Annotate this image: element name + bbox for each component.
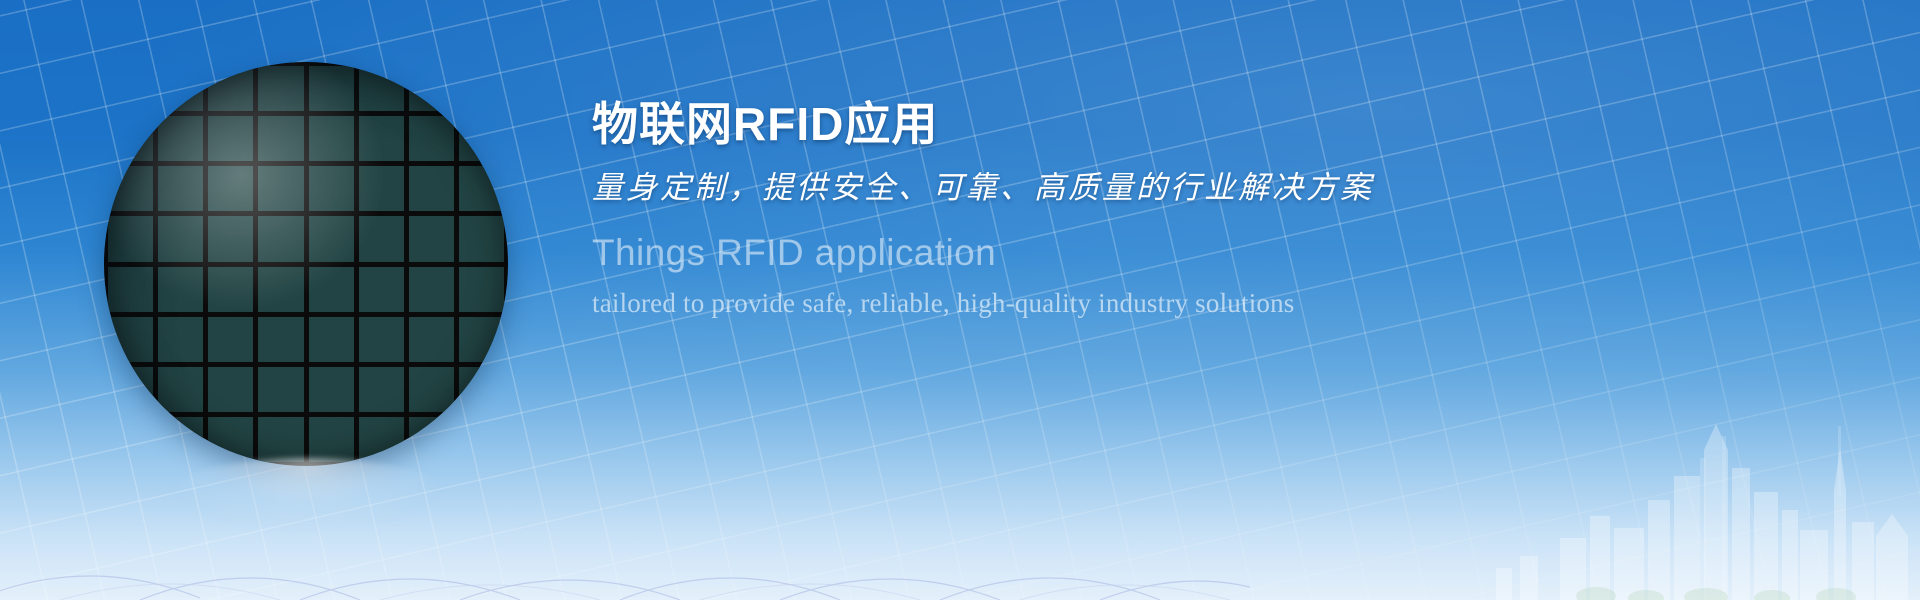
globe-tile <box>208 317 253 362</box>
globe-tile <box>208 166 253 211</box>
globe-tile <box>459 267 504 312</box>
globe-tile <box>309 216 354 261</box>
globe-tile <box>409 367 454 412</box>
globe-tile <box>409 166 454 211</box>
mosaic-globe <box>104 62 514 482</box>
wave-arcs-graphic <box>0 510 1250 600</box>
globe-tile <box>208 267 253 312</box>
globe-tile <box>409 267 454 312</box>
globe-tile <box>309 267 354 312</box>
globe-tile <box>409 66 454 111</box>
globe-tile <box>158 267 203 312</box>
globe-tile <box>359 417 404 462</box>
globe-tile <box>258 216 303 261</box>
city-skyline-graphic <box>1400 340 1920 600</box>
globe-tile <box>158 66 203 111</box>
globe-tile <box>359 216 404 261</box>
globe-tile <box>158 216 203 261</box>
globe-tile <box>208 216 253 261</box>
globe-tile <box>309 417 354 462</box>
globe-tile <box>309 317 354 362</box>
globe-tile <box>158 116 203 161</box>
globe-tile <box>309 116 354 161</box>
banner-subtitle-cn: 量身定制，提供安全、可靠、高质量的行业解决方案 <box>592 168 1592 210</box>
globe-tile <box>459 317 504 362</box>
globe-sphere <box>104 62 508 466</box>
globe-tile <box>359 166 404 211</box>
globe-tile <box>459 116 504 161</box>
globe-tile <box>108 216 153 261</box>
globe-reflection <box>172 458 442 528</box>
globe-tile <box>108 267 153 312</box>
globe-tile <box>258 267 303 312</box>
globe-tile <box>258 367 303 412</box>
globe-tile <box>108 317 153 362</box>
globe-tile <box>309 367 354 412</box>
globe-tile <box>309 66 354 111</box>
banner-caption-en: tailored to provide safe, reliable, high… <box>592 286 1592 321</box>
globe-tile <box>309 166 354 211</box>
globe-tile <box>258 116 303 161</box>
globe-tile <box>359 317 404 362</box>
globe-tile <box>359 66 404 111</box>
globe-tile <box>459 367 504 412</box>
globe-tile <box>359 116 404 161</box>
globe-tile <box>258 166 303 211</box>
banner-title: 物联网RFID应用 <box>592 96 1592 154</box>
globe-tile <box>409 216 454 261</box>
globe-tile <box>258 417 303 462</box>
globe-tile <box>108 166 153 211</box>
globe-tile <box>208 417 253 462</box>
globe-tile <box>459 417 504 462</box>
globe-tile <box>108 367 153 412</box>
globe-tile <box>459 66 504 111</box>
globe-tile-grid <box>104 62 508 466</box>
globe-tile <box>258 66 303 111</box>
globe-tile <box>459 166 504 211</box>
globe-tile <box>359 367 404 412</box>
globe-tile <box>409 417 454 462</box>
globe-tile <box>108 116 153 161</box>
globe-tile <box>208 116 253 161</box>
hero-banner: 物联网RFID应用 量身定制，提供安全、可靠、高质量的行业解决方案 Things… <box>0 0 1920 600</box>
globe-tile <box>158 417 203 462</box>
banner-subtitle-en: Things RFID application <box>592 231 1592 275</box>
globe-tile <box>108 417 153 462</box>
globe-tile <box>208 66 253 111</box>
globe-tile <box>258 317 303 362</box>
globe-tile <box>409 116 454 161</box>
globe-tile <box>409 317 454 362</box>
globe-tile <box>459 216 504 261</box>
globe-tile <box>158 367 203 412</box>
globe-tile <box>359 267 404 312</box>
globe-tile <box>208 367 253 412</box>
globe-tile <box>158 166 203 211</box>
globe-tile <box>108 66 153 111</box>
banner-copy: 物联网RFID应用 量身定制，提供安全、可靠、高质量的行业解决方案 Things… <box>592 96 1592 321</box>
globe-tile <box>158 317 203 362</box>
